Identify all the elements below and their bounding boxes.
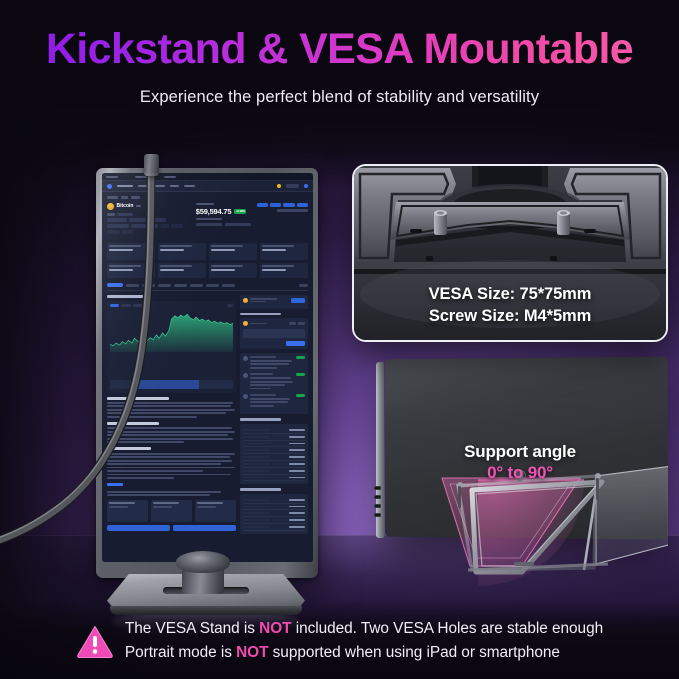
stat-card — [158, 243, 206, 260]
coin-name: Bitcoin — [117, 203, 134, 209]
coin-identity: Bitcoin — [107, 203, 190, 239]
feed-post[interactable] — [243, 394, 305, 408]
price-chart-panel — [107, 301, 236, 393]
tab-holders[interactable] — [190, 284, 203, 287]
page-title: Kickstand & VESA Mountable — [0, 26, 679, 72]
price-actions — [257, 203, 308, 239]
tab-similar[interactable] — [206, 284, 219, 287]
trade-button[interactable] — [291, 298, 305, 303]
coin-price: $59,594.75 +2.18% — [196, 207, 251, 216]
article-section — [107, 422, 236, 443]
stat-card — [209, 243, 257, 260]
disclaimer-block: The VESA Stand is NOT included. Two VESA… — [0, 617, 679, 665]
article-heading — [107, 447, 151, 450]
post-input[interactable] — [243, 329, 305, 338]
breadcrumb[interactable] — [107, 196, 308, 199]
chart-range-1d[interactable] — [110, 304, 119, 308]
ticker-item — [106, 176, 118, 178]
community-heading — [240, 313, 281, 316]
breadcrumb-item[interactable] — [121, 196, 128, 199]
avatar — [243, 356, 248, 361]
disclaimer-line2-pre: Portrait mode is — [125, 644, 236, 661]
portrait-monitor: Bitcoin — [96, 168, 318, 578]
stat-row — [243, 475, 305, 482]
ticker-item — [300, 176, 309, 178]
bitcoin-icon — [243, 298, 248, 303]
breadcrumb-item[interactable] — [107, 196, 118, 199]
chart-type-toggle[interactable] — [227, 304, 233, 308]
section-tabs[interactable] — [107, 283, 308, 291]
vesa-stand-hinge — [176, 551, 230, 573]
price-subtext — [196, 218, 222, 220]
avatar[interactable] — [304, 184, 308, 188]
price-range-bar — [196, 223, 222, 226]
scrubber-selection[interactable] — [132, 380, 198, 389]
cta-button[interactable] — [107, 525, 170, 531]
disclaimer-line1-pre: The VESA Stand is — [125, 620, 259, 637]
chart-controls[interactable] — [110, 304, 233, 308]
support-angle-range: 0° to 90° — [372, 463, 668, 483]
disclaimer-text: The VESA Stand is NOT included. Two VESA… — [125, 617, 603, 665]
chart-time-scrubber[interactable] — [110, 380, 233, 389]
trending-row[interactable] — [243, 497, 305, 504]
community-feed — [240, 353, 308, 414]
coin-chip-row — [107, 218, 190, 234]
stat-row — [243, 427, 305, 434]
main-column — [107, 295, 236, 538]
user-avatar — [243, 321, 248, 326]
sentiment-badge — [296, 356, 305, 359]
disclaimer-section — [107, 491, 236, 496]
footer-cards — [107, 500, 236, 522]
price-caption — [196, 203, 214, 205]
stat-card — [107, 243, 155, 260]
trade-widget — [240, 295, 308, 309]
nav-item[interactable] — [155, 185, 165, 188]
buy-button[interactable] — [257, 203, 268, 207]
coin-chip[interactable] — [122, 230, 133, 234]
coin-chip[interactable] — [107, 224, 129, 228]
vesa-detail-callout: VESA Size: 75*75mm Screw Size: M4*5mm — [352, 164, 668, 342]
sidebar-column — [240, 295, 308, 538]
coin-symbol — [136, 205, 141, 208]
bitcoin-icon — [107, 203, 114, 210]
disclaimer-line2-strong: NOT — [236, 644, 268, 661]
nav-item[interactable] — [138, 185, 150, 188]
price-range-bar — [225, 223, 251, 226]
coin-chip[interactable] — [148, 218, 166, 222]
nav-item[interactable] — [184, 185, 195, 188]
coin-chip[interactable] — [171, 224, 183, 228]
site-ticker-bar — [102, 173, 313, 181]
exchange-button[interactable] — [270, 203, 281, 207]
coin-chip[interactable] — [107, 218, 127, 222]
article-section — [107, 447, 236, 479]
disclaimer-line-1: The VESA Stand is NOT included. Two VESA… — [125, 617, 603, 641]
screw-size-text: Screw Size: M4*5mm — [354, 306, 666, 328]
chart-section-title — [107, 295, 147, 298]
stat-card — [260, 263, 308, 278]
price-area-chart — [110, 313, 233, 353]
support-angle-label: Support angle — [372, 442, 668, 462]
trending-row[interactable] — [243, 504, 305, 511]
article-heading — [107, 422, 159, 425]
disclaimer-line1-strong: NOT — [259, 620, 291, 637]
stat-row — [243, 434, 305, 441]
nav-item[interactable] — [117, 185, 133, 188]
coin-chip[interactable] — [160, 224, 169, 228]
trending-heading — [240, 488, 281, 491]
breadcrumb-item[interactable] — [131, 196, 140, 199]
post-submit-button[interactable] — [286, 341, 305, 346]
footer-card[interactable] — [195, 500, 236, 522]
tab-analytics[interactable] — [158, 284, 171, 287]
chart-range-7d[interactable] — [121, 304, 131, 308]
coin-chip[interactable] — [129, 218, 146, 222]
product-marketing-image: Kickstand & VESA Mountable Experience th… — [0, 0, 679, 679]
tab-about[interactable] — [174, 284, 187, 287]
site-navbar[interactable] — [102, 181, 313, 192]
bullish-button[interactable] — [289, 322, 296, 325]
bearish-button[interactable] — [298, 322, 305, 325]
ticker-item — [164, 176, 176, 178]
gaming-button[interactable] — [283, 203, 294, 207]
rank-badge — [107, 213, 115, 217]
sentiment-badge — [296, 373, 305, 376]
stat-row — [243, 468, 305, 475]
support-angle-callout: Support angle 0° to 90° — [372, 442, 668, 483]
stat-card — [260, 243, 308, 260]
coin-tag[interactable] — [117, 213, 133, 217]
account-icon[interactable] — [277, 184, 281, 188]
coin-chip[interactable] — [107, 230, 120, 234]
stat-row — [243, 461, 305, 468]
footer-card[interactable] — [151, 500, 192, 522]
market-stats-grid — [107, 243, 308, 278]
stat-card — [209, 263, 257, 278]
avatar — [243, 373, 248, 378]
avatar — [243, 394, 248, 399]
price-change-badge: +2.18% — [234, 209, 246, 214]
tab-yield[interactable] — [222, 284, 235, 287]
monitor-screen: Bitcoin — [102, 173, 313, 562]
feed-post[interactable] — [243, 356, 305, 370]
stand-base-lip — [110, 606, 302, 615]
nav-item[interactable] — [170, 185, 179, 188]
trending-row[interactable] — [243, 524, 305, 531]
more-link[interactable] — [277, 209, 308, 212]
feed-post[interactable] — [243, 373, 305, 391]
stat-row — [243, 447, 305, 454]
vesa-caption: VESA Size: 75*75mm Screw Size: M4*5mm — [354, 284, 666, 328]
coin-title: Bitcoin — [107, 203, 190, 210]
cta-button[interactable] — [173, 525, 236, 531]
disclaimer-line2-post: supported when using iPad or smartphone — [268, 644, 559, 661]
site-logo-icon — [107, 184, 112, 189]
earn-button[interactable] — [297, 203, 308, 207]
read-more-link[interactable] — [107, 483, 123, 486]
crypto-dashboard-page: Bitcoin — [102, 173, 313, 562]
warning-triangle-icon — [76, 624, 114, 659]
article-heading — [107, 397, 169, 400]
price-block: $59,594.75 +2.18% — [196, 203, 251, 239]
trending-coins — [240, 494, 308, 534]
coin-price-value: $59,594.75 — [196, 207, 232, 216]
usb-c-plug — [144, 154, 159, 176]
post-composer — [240, 318, 308, 349]
disclaimer-line-2: Portrait mode is NOT supported when usin… — [125, 641, 603, 665]
chart-range-1m[interactable] — [133, 304, 145, 308]
coin-chip[interactable] — [131, 224, 146, 228]
landscape-monitor-assembly: Support angle 0° to 90° — [372, 358, 668, 608]
price-statistics — [240, 424, 308, 484]
stat-card — [158, 263, 206, 278]
coin-summary-row: Bitcoin — [107, 203, 308, 239]
stat-row — [243, 454, 305, 461]
stat-row — [243, 441, 305, 448]
page-body: Bitcoin — [102, 192, 313, 542]
kickstand-illustration — [372, 358, 668, 608]
page-subtitle: Experience the perfect blend of stabilit… — [0, 88, 679, 107]
disclaimer-line1-post: included. Two VESA Holes are stable enou… — [292, 620, 604, 637]
stat-card — [107, 263, 155, 278]
ticker-item — [122, 176, 131, 178]
article-section — [107, 397, 236, 418]
tab-more[interactable] — [299, 284, 308, 287]
vesa-size-text: VESA Size: 75*75mm — [354, 284, 666, 306]
coin-chip[interactable] — [148, 224, 158, 228]
content-columns — [107, 295, 308, 538]
monitor-bezel: Bitcoin — [96, 168, 318, 578]
footer-card[interactable] — [107, 500, 148, 522]
stats-heading — [240, 418, 281, 421]
tab-news[interactable] — [142, 284, 155, 287]
tab-markets[interactable] — [126, 284, 139, 287]
trending-row[interactable] — [243, 517, 305, 524]
signin-button[interactable] — [286, 184, 299, 188]
trending-row[interactable] — [243, 510, 305, 517]
tab-overview[interactable] — [107, 283, 123, 287]
sentiment-badge — [296, 394, 305, 397]
